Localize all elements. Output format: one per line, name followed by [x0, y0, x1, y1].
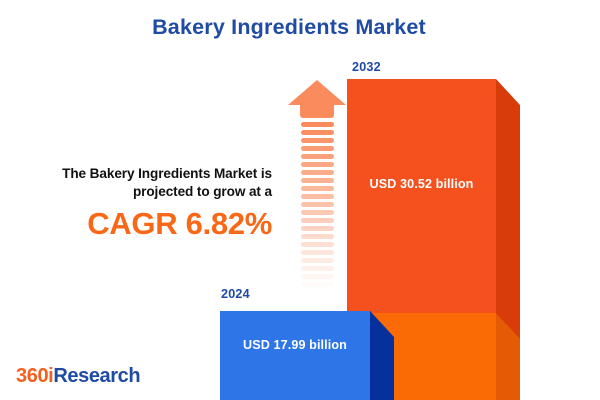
arrow-shaft-stripe: [301, 226, 334, 231]
arrow-shaft-stripe: [301, 146, 334, 151]
logo-research-text: Research: [53, 365, 140, 387]
arrow-shaft: [301, 122, 334, 292]
bar-2024-front-face: [220, 311, 370, 400]
arrow-shaft-stripe: [301, 186, 334, 191]
arrow-shaft-stripe: [301, 162, 334, 167]
bar-2024-year-label: 2024: [221, 287, 250, 301]
arrow-shaft-stripe: [301, 242, 334, 247]
cagr-value: CAGR 6.82%: [20, 207, 272, 241]
arrow-shaft-stripe: [301, 234, 334, 239]
arrow-shaft-stripe: [301, 202, 334, 207]
arrow-shaft-stripe: [301, 218, 334, 223]
bar-2032-year-label: 2032: [352, 60, 381, 74]
arrow-shaft-stripe: [301, 154, 334, 159]
arrow-head: [288, 80, 346, 105]
arrow-shaft-stripe: [301, 194, 334, 199]
arrow-shaft-stripe: [301, 138, 334, 143]
arrow-neck: [300, 105, 334, 118]
caption-line-2: projected to grow at a: [20, 183, 272, 201]
arrow-shaft-stripe: [301, 210, 334, 215]
caption-block: The Bakery Ingredients Market is project…: [20, 165, 272, 241]
page-title: Bakery Ingredients Market: [0, 15, 578, 40]
arrow-shaft-stripe: [301, 258, 334, 263]
arrow-shaft-stripe: [301, 122, 334, 127]
arrow-shaft-stripe: [301, 250, 334, 255]
arrow-shaft-stripe: [301, 274, 334, 279]
arrow-shaft-stripe: [301, 170, 334, 175]
arrow-shaft-stripe: [301, 266, 334, 271]
caption-line-1: The Bakery Ingredients Market is: [20, 165, 272, 183]
arrow-shaft-stripe: [301, 130, 334, 135]
arrow-shaft-stripe: [301, 178, 334, 183]
infographic-canvas: Bakery Ingredients Market The Bakery Ing…: [0, 0, 600, 400]
bar-2032-value-label: USD 30.52 billion: [347, 177, 496, 191]
brand-logo: 360iResearch: [16, 365, 140, 388]
bar-2024-value-label: USD 17.99 billion: [220, 338, 370, 352]
arrow-shaft-stripe: [301, 282, 334, 287]
bar-2024: USD 17.99 billion: [220, 311, 370, 400]
logo-360i-text: 360i: [16, 365, 53, 387]
up-arrow-icon: [288, 80, 346, 292]
